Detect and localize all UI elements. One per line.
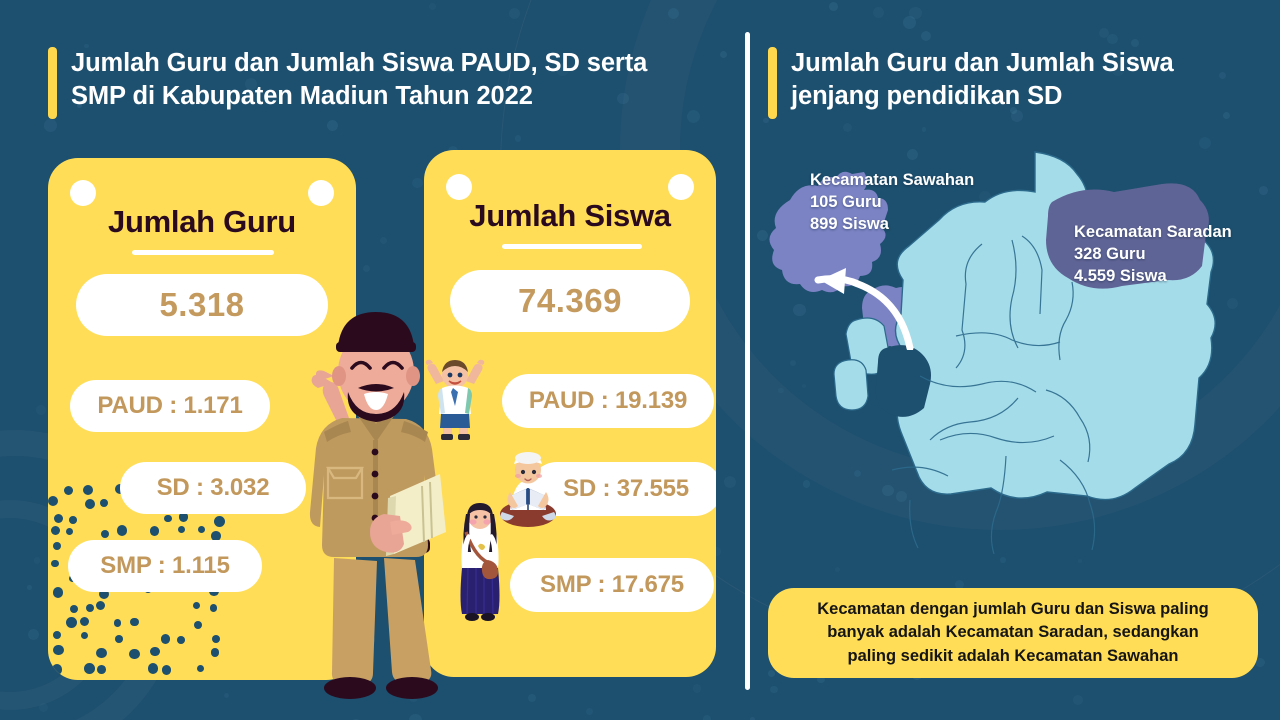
conclusion-box: Kecamatan dengan jumlah Guru dan Siswa p…: [768, 588, 1258, 678]
card-punch-hole-left: [70, 180, 96, 206]
level-pill-smp-siswa: SMP : 17.675: [510, 558, 714, 612]
total-value-siswa: 74.369: [450, 270, 690, 332]
title-accent-bar: [48, 47, 57, 119]
panel-divider: [745, 32, 750, 690]
map-region-dark-notch: [876, 345, 931, 417]
left-title-text: Jumlah Guru dan Jumlah Siswa PAUD, SD se…: [71, 47, 647, 113]
card-heading-guru: Jumlah Guru: [48, 204, 356, 240]
right-panel-title: Jumlah Guru dan Jumlah Siswa jenjang pen…: [768, 47, 1174, 119]
student-girl-illustration: [452, 502, 508, 626]
heading-rule: [132, 250, 274, 255]
card-punch-hole-left: [446, 174, 472, 200]
heading-rule: [502, 244, 642, 249]
left-panel-title: Jumlah Guru dan Jumlah Siswa PAUD, SD se…: [48, 47, 647, 119]
student-boy-illustration: [424, 358, 486, 442]
card-heading-siswa: Jumlah Siswa: [424, 198, 716, 234]
map-region-west-2: [834, 360, 868, 410]
title-accent-bar: [768, 47, 777, 119]
level-pill-paud-siswa: PAUD : 19.139: [502, 374, 714, 428]
level-pill-smp-guru: SMP : 1.115: [68, 540, 262, 592]
map-label-saradan: Kecamatan Saradan 328 Guru 4.559 Siswa: [1074, 222, 1232, 287]
map-label-sawahan: Kecamatan Sawahan 105 Guru 899 Siswa: [810, 170, 974, 235]
map-pointer-arrow: [780, 230, 960, 350]
card-punch-hole-right: [668, 174, 694, 200]
level-pill-paud-guru: PAUD : 1.171: [70, 380, 270, 432]
right-title-text: Jumlah Guru dan Jumlah Siswa jenjang pen…: [791, 47, 1174, 113]
card-punch-hole-right: [308, 180, 334, 206]
